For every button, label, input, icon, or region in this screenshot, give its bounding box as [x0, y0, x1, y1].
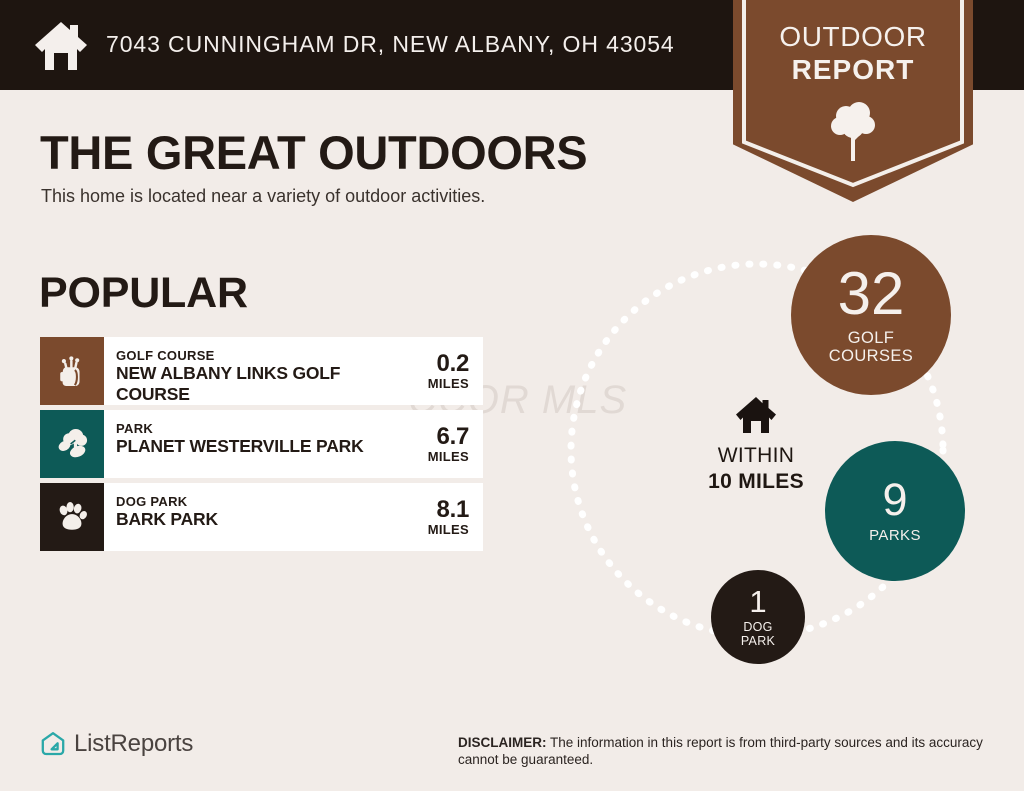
- within-radius-label: WITHIN 10 MILES: [666, 396, 846, 494]
- distance-unit: MILES: [411, 522, 469, 537]
- list-item-category: DOG PARK: [116, 494, 411, 509]
- list-item[interactable]: GOLF COURSE NEW ALBANY LINKS GOLF COURSE…: [40, 337, 483, 405]
- disclaimer: DISCLAIMER: The information in this repo…: [458, 734, 1003, 768]
- house-icon: [33, 20, 89, 72]
- listreports-logo[interactable]: ListReports: [40, 730, 193, 758]
- stat-bubble-dog-park: 1 DOG PARK: [711, 570, 805, 664]
- list-item-category: PARK: [116, 421, 411, 436]
- listreports-house-icon: [40, 731, 66, 757]
- list-item-distance: 6.7 MILES: [411, 410, 483, 478]
- page-title: THE GREAT OUTDOORS: [40, 125, 587, 180]
- list-item-text: GOLF COURSE NEW ALBANY LINKS GOLF COURSE: [104, 337, 411, 405]
- distance-value: 0.2: [411, 351, 469, 376]
- dog-park-count: 1: [749, 586, 766, 617]
- distance-value: 6.7: [411, 424, 469, 449]
- list-item-name: PLANET WESTERVILLE PARK: [116, 436, 411, 457]
- within-line1: WITHIN: [666, 443, 846, 469]
- outdoor-report-page: 7043 CUNNINGHAM DR, NEW ALBANY, OH 43054…: [0, 0, 1024, 791]
- golf-courses-label: GOLF COURSES: [829, 330, 913, 366]
- list-item[interactable]: PARK PLANET WESTERVILLE PARK 6.7 MILES: [40, 410, 483, 478]
- property-address: 7043 CUNNINGHAM DR, NEW ALBANY, OH 43054: [106, 31, 675, 58]
- dog-park-label: DOG PARK: [741, 621, 775, 648]
- tree-icon: [830, 100, 876, 162]
- list-item-distance: 0.2 MILES: [411, 337, 483, 405]
- list-item-text: PARK PLANET WESTERVILLE PARK: [104, 410, 411, 478]
- popular-heading: POPULAR: [39, 269, 248, 318]
- list-item[interactable]: DOG PARK BARK PARK 8.1 MILES: [40, 483, 483, 551]
- distance-value: 8.1: [411, 497, 469, 522]
- list-item-name: BARK PARK: [116, 509, 411, 530]
- list-item-name: NEW ALBANY LINKS GOLF COURSE: [116, 363, 411, 405]
- stat-bubble-parks: 9 PARKS: [825, 441, 965, 581]
- parks-count: 9: [882, 477, 907, 522]
- disclaimer-label: DISCLAIMER:: [458, 735, 547, 750]
- park-tree-icon: [40, 410, 104, 478]
- parks-label: PARKS: [869, 528, 921, 544]
- list-item-text: DOG PARK BARK PARK: [104, 483, 411, 551]
- dog-park-label-line1: DOG: [741, 621, 775, 635]
- golf-courses-label-line1: GOLF: [829, 330, 913, 348]
- badge-title: OUTDOOR REPORT: [733, 20, 973, 86]
- badge-title-line2: REPORT: [733, 53, 973, 86]
- list-item-category: GOLF COURSE: [116, 348, 411, 363]
- distance-unit: MILES: [411, 376, 469, 391]
- list-item-distance: 8.1 MILES: [411, 483, 483, 551]
- outdoor-report-badge: OUTDOOR REPORT: [733, 0, 973, 202]
- distance-unit: MILES: [411, 449, 469, 464]
- golf-courses-label-line2: COURSES: [829, 348, 913, 366]
- golf-bag-icon: [40, 337, 104, 405]
- paw-print-icon: [40, 483, 104, 551]
- page-subtitle: This home is located near a variety of o…: [41, 186, 485, 207]
- popular-list: GOLF COURSE NEW ALBANY LINKS GOLF COURSE…: [40, 337, 483, 556]
- dog-park-label-line2: PARK: [741, 635, 775, 649]
- house-icon: [735, 396, 777, 434]
- listreports-logo-text: ListReports: [74, 730, 193, 758]
- stat-bubble-golf-courses: 32 GOLF COURSES: [791, 235, 951, 395]
- badge-title-line1: OUTDOOR: [733, 20, 973, 53]
- within-line2: 10 MILES: [666, 469, 846, 494]
- golf-courses-count: 32: [838, 264, 905, 324]
